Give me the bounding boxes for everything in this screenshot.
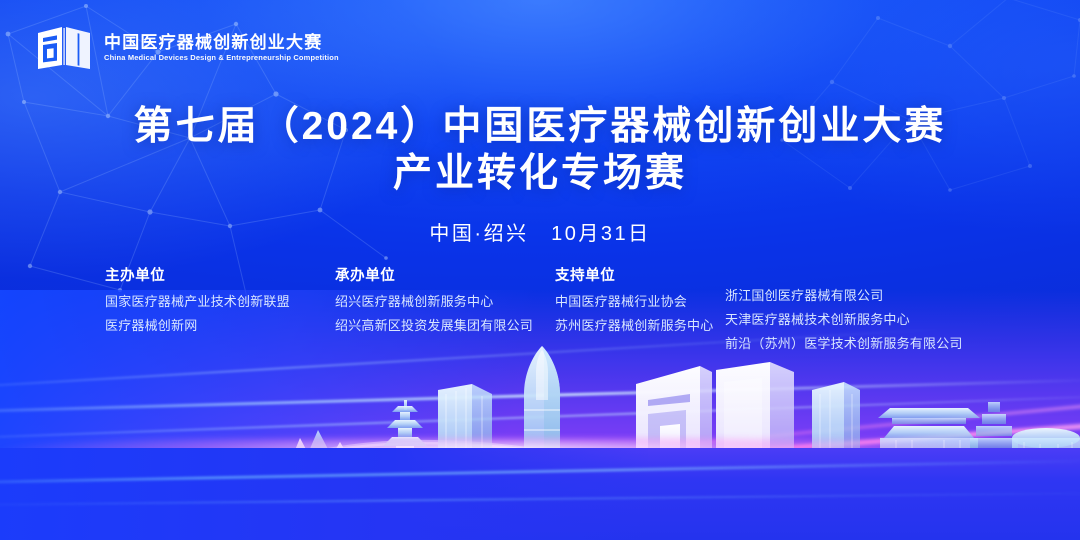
conference-banner: 中国医疗器械创新创业大赛 China Medical Devices Desig… [0, 0, 1080, 540]
organizer-heading-spacer [725, 264, 975, 289]
page-title-line-2: 产业转化专场赛 [0, 151, 1080, 196]
organizer-item: 绍兴高新区投资发展集团有限公司 [335, 319, 555, 332]
brand-name-cn: 中国医疗器械创新创业大赛 [104, 34, 339, 53]
hero-titles: 第七届（2024）中国医疗器械创新创业大赛 产业转化专场赛 中国·绍兴 10月3… [0, 104, 1080, 246]
organizer-item: 苏州医疗器械创新服务中心 [555, 319, 725, 332]
organizer-item: 前沿（苏州）医学技术创新服务有限公司 [725, 337, 975, 350]
organizer-column-host: 主办单位 国家医疗器械产业技术创新联盟 医疗器械创新网 [105, 264, 335, 343]
organizer-column-supporter: 支持单位 中国医疗器械行业协会 苏州医疗器械创新服务中心 [555, 264, 725, 343]
open-book-mark-icon [36, 24, 92, 72]
brand-name-en: China Medical Devices Design & Entrepren… [104, 54, 339, 62]
organizer-item: 国家医疗器械产业技术创新联盟 [105, 295, 335, 308]
brand-logo: 中国医疗器械创新创业大赛 China Medical Devices Desig… [36, 24, 339, 72]
organizer-heading: 承办单位 [335, 264, 555, 285]
organizer-item: 天津医疗器械技术创新服务中心 [725, 313, 975, 326]
organizer-heading: 支持单位 [555, 264, 725, 285]
organizer-item: 浙江国创医疗器械有限公司 [725, 289, 975, 302]
organizer-heading: 主办单位 [105, 264, 335, 285]
organizer-item: 绍兴医疗器械创新服务中心 [335, 295, 555, 308]
organizer-column-undertaker: 承办单位 绍兴医疗器械创新服务中心 绍兴高新区投资发展集团有限公司 [335, 264, 555, 343]
organizer-column-supporter-overflow: 浙江国创医疗器械有限公司 天津医疗器械技术创新服务中心 前沿（苏州）医学技术创新… [725, 264, 975, 361]
organizer-item: 中国医疗器械行业协会 [555, 295, 725, 308]
organizers-section: 主办单位 国家医疗器械产业技术创新联盟 医疗器械创新网 承办单位 绍兴医疗器械创… [0, 264, 1080, 361]
page-title-line-1: 第七届（2024）中国医疗器械创新创业大赛 [0, 104, 1080, 149]
organizer-item: 医疗器械创新网 [105, 319, 335, 332]
event-location-date: 中国·绍兴 10月31日 [0, 217, 1080, 246]
